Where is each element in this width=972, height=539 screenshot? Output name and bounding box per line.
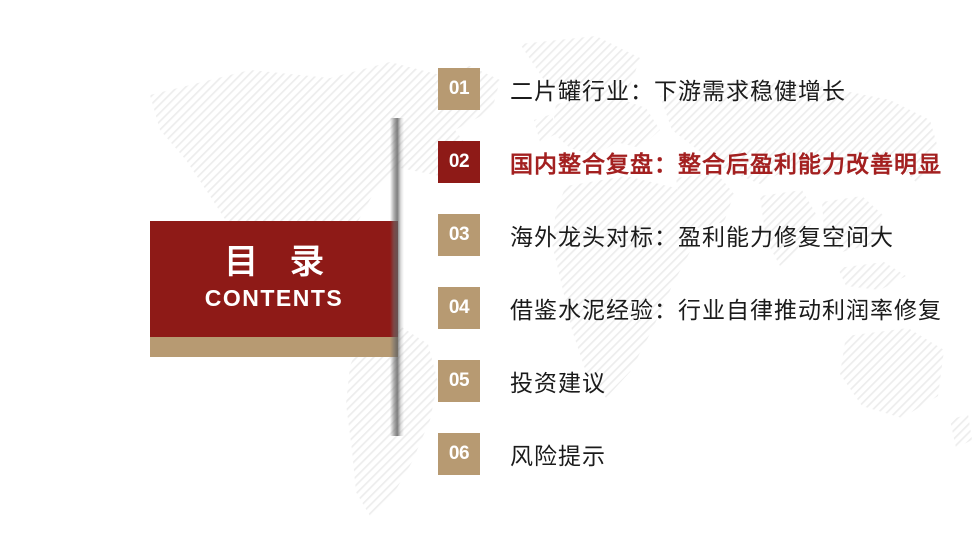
toc-item-05[interactable]: 05 投资建议 (438, 360, 938, 402)
toc-number-badge: 01 (438, 68, 480, 110)
toc-number-badge: 04 (438, 287, 480, 329)
toc-item-label: 海外龙头对标：盈利能力修复空间大 (510, 218, 894, 252)
toc-number-badge: 03 (438, 214, 480, 256)
contents-gold-bar (150, 337, 398, 357)
contents-panel: 目 录 CONTENTS (150, 221, 398, 357)
toc-item-06[interactable]: 06 风险提示 (438, 433, 938, 475)
slide-canvas: 目 录 CONTENTS 01 二片罐行业：下游需求稳健增长 02 国内整合复盘… (0, 0, 972, 539)
toc-item-label: 借鉴水泥经验：行业自律推动利润率修复 (510, 291, 942, 325)
toc-item-03[interactable]: 03 海外龙头对标：盈利能力修复空间大 (438, 214, 938, 256)
toc-number-badge: 06 (438, 433, 480, 475)
toc-item-label: 风险提示 (510, 437, 606, 471)
toc-item-label: 投资建议 (510, 364, 606, 398)
toc-item-01[interactable]: 01 二片罐行业：下游需求稳健增长 (438, 68, 938, 110)
toc-list: 01 二片罐行业：下游需求稳健增长 02 国内整合复盘：整合后盈利能力改善明显 … (438, 68, 938, 475)
toc-number-badge: 05 (438, 360, 480, 402)
toc-item-02[interactable]: 02 国内整合复盘：整合后盈利能力改善明显 (438, 141, 938, 183)
toc-number-badge: 02 (438, 141, 480, 183)
contents-red-block: 目 录 CONTENTS (150, 221, 398, 337)
toc-item-label: 国内整合复盘：整合后盈利能力改善明显 (510, 145, 942, 179)
contents-title-en: CONTENTS (205, 285, 344, 313)
toc-item-label: 二片罐行业：下游需求稳健增长 (510, 72, 846, 106)
contents-title-cn: 目 录 (214, 245, 334, 281)
toc-item-04[interactable]: 04 借鉴水泥经验：行业自律推动利润率修复 (438, 287, 938, 329)
